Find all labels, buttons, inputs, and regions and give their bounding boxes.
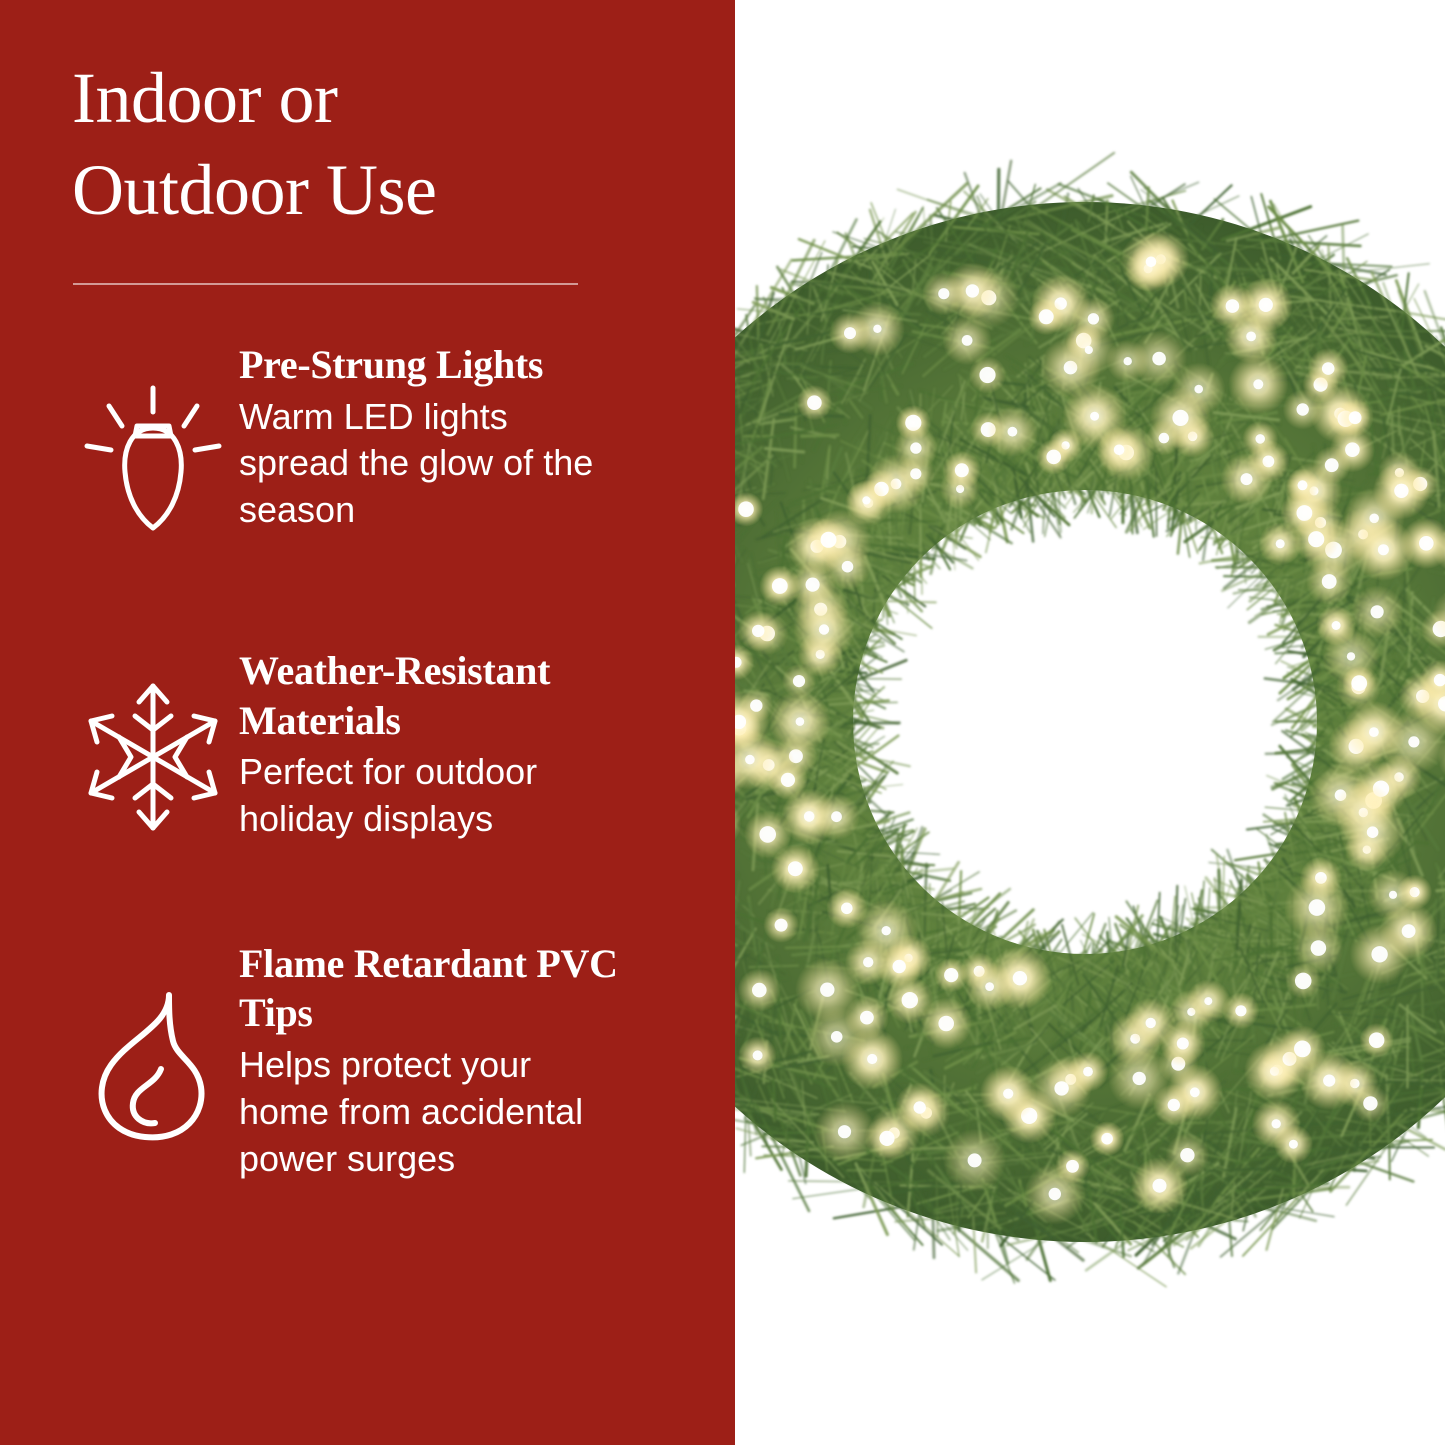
feature-text-block: Flame Retardant PVC Tips Helps protect y… [235, 939, 695, 1183]
page-title: Indoor or Outdoor Use [72, 52, 672, 236]
feature-description: Perfect for outdoor holiday displays [239, 749, 599, 843]
page-title-line-2: Outdoor Use [72, 144, 672, 236]
feature-item-pre-strung-lights: Pre-Strung Lights Warm LED lights spread… [0, 340, 735, 550]
feature-description: Warm LED lights spread the glow of the s… [239, 394, 599, 534]
flame-icon [70, 981, 235, 1151]
pre-lit-artificial-christmas-wreath [735, 10, 1445, 1440]
feature-title: Flame Retardant PVC Tips [239, 939, 649, 1038]
divider [73, 283, 578, 285]
feature-panel: Indoor or Outdoor Use [0, 0, 735, 1445]
feature-item-weather-resistant-materials: Weather-Resistant Materials Perfect for … [0, 646, 735, 843]
feature-title: Pre-Strung Lights [239, 340, 649, 390]
feature-text-block: Weather-Resistant Materials Perfect for … [235, 646, 695, 843]
product-feature-infographic: Indoor or Outdoor Use [0, 0, 1445, 1445]
feature-text-block: Pre-Strung Lights Warm LED lights spread… [235, 340, 695, 534]
feature-description: Helps protect your home from accidental … [239, 1042, 599, 1182]
page-title-line-1: Indoor or [72, 52, 672, 144]
feature-item-flame-retardant-pvc-tips: Flame Retardant PVC Tips Helps protect y… [0, 939, 735, 1183]
feature-list: Pre-Strung Lights Warm LED lights spread… [0, 340, 735, 1278]
light-bulb-icon [70, 380, 235, 550]
feature-title: Weather-Resistant Materials [239, 646, 649, 745]
snowflake-icon [70, 672, 235, 842]
product-image-area [735, 0, 1445, 1445]
